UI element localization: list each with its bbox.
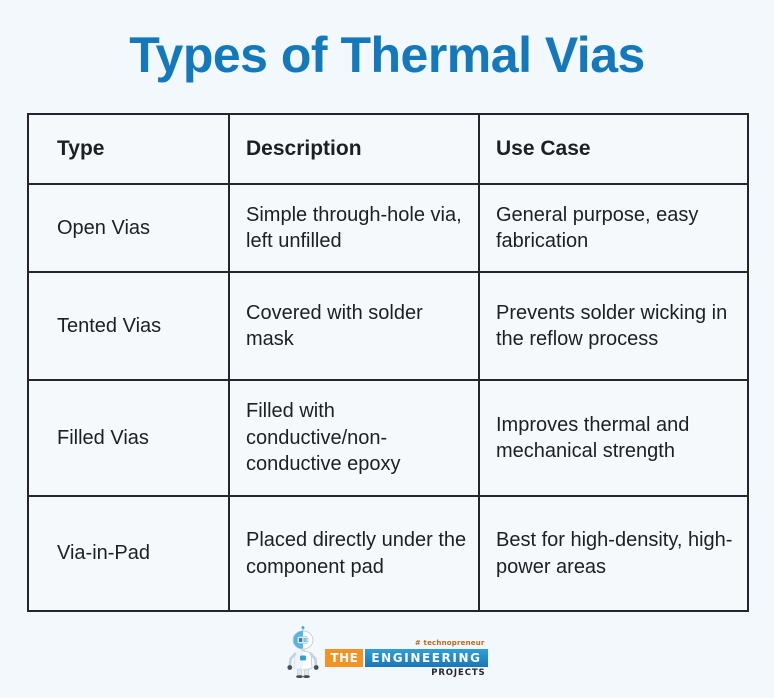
logo-badges: THE ENGINEERING — [325, 649, 487, 667]
table-row: Tented Vias Covered with solder mask Pre… — [28, 272, 748, 380]
thermal-vias-table-container: Type Description Use Case Open Vias Simp… — [27, 113, 747, 612]
cell-description: Simple through-hole via, left unfilled — [229, 184, 479, 272]
table-row: Via-in-Pad Placed directly under the com… — [28, 496, 748, 611]
cell-type: Tented Vias — [28, 272, 229, 380]
badge-projects: PROJECTS — [431, 669, 485, 678]
cell-type: Open Vias — [28, 184, 229, 272]
logo-wordmark: # technopreneur THE ENGINEERING PROJECTS — [325, 640, 487, 679]
column-header-use-case: Use Case — [479, 114, 748, 184]
badge-engineering: ENGINEERING — [365, 649, 487, 667]
badge-the: THE — [325, 649, 363, 667]
cell-use-case: Best for high-density, high-power areas — [479, 496, 748, 611]
tagline-technopreneur: # technopreneur — [415, 640, 485, 647]
cell-description: Covered with solder mask — [229, 272, 479, 380]
column-header-description: Description — [229, 114, 479, 184]
table-body: Open Vias Simple through-hole via, left … — [28, 184, 748, 611]
robot-mascot-icon — [286, 626, 320, 678]
table-header-row: Type Description Use Case — [28, 114, 748, 184]
column-header-type: Type — [28, 114, 229, 184]
cell-use-case: Prevents solder wicking in the reflow pr… — [479, 272, 748, 380]
infographic-page: Types of Thermal Vias Type Description U… — [0, 0, 774, 698]
table-row: Open Vias Simple through-hole via, left … — [28, 184, 748, 272]
the-engineering-projects-logo: # technopreneur THE ENGINEERING PROJECTS — [286, 626, 487, 678]
table-header: Type Description Use Case — [28, 114, 748, 184]
page-title: Types of Thermal Vias — [0, 0, 774, 80]
footer-branding: # technopreneur THE ENGINEERING PROJECTS — [0, 626, 774, 678]
thermal-vias-table: Type Description Use Case Open Vias Simp… — [27, 113, 749, 612]
cell-description: Placed directly under the component pad — [229, 496, 479, 611]
cell-type: Filled Vias — [28, 380, 229, 496]
cell-type: Via-in-Pad — [28, 496, 229, 611]
cell-use-case: General purpose, easy fabrication — [479, 184, 748, 272]
cell-use-case: Improves thermal and mechanical strength — [479, 380, 748, 496]
cell-description: Filled with conductive/non-conductive ep… — [229, 380, 479, 496]
table-row: Filled Vias Filled with conductive/non-c… — [28, 380, 748, 496]
